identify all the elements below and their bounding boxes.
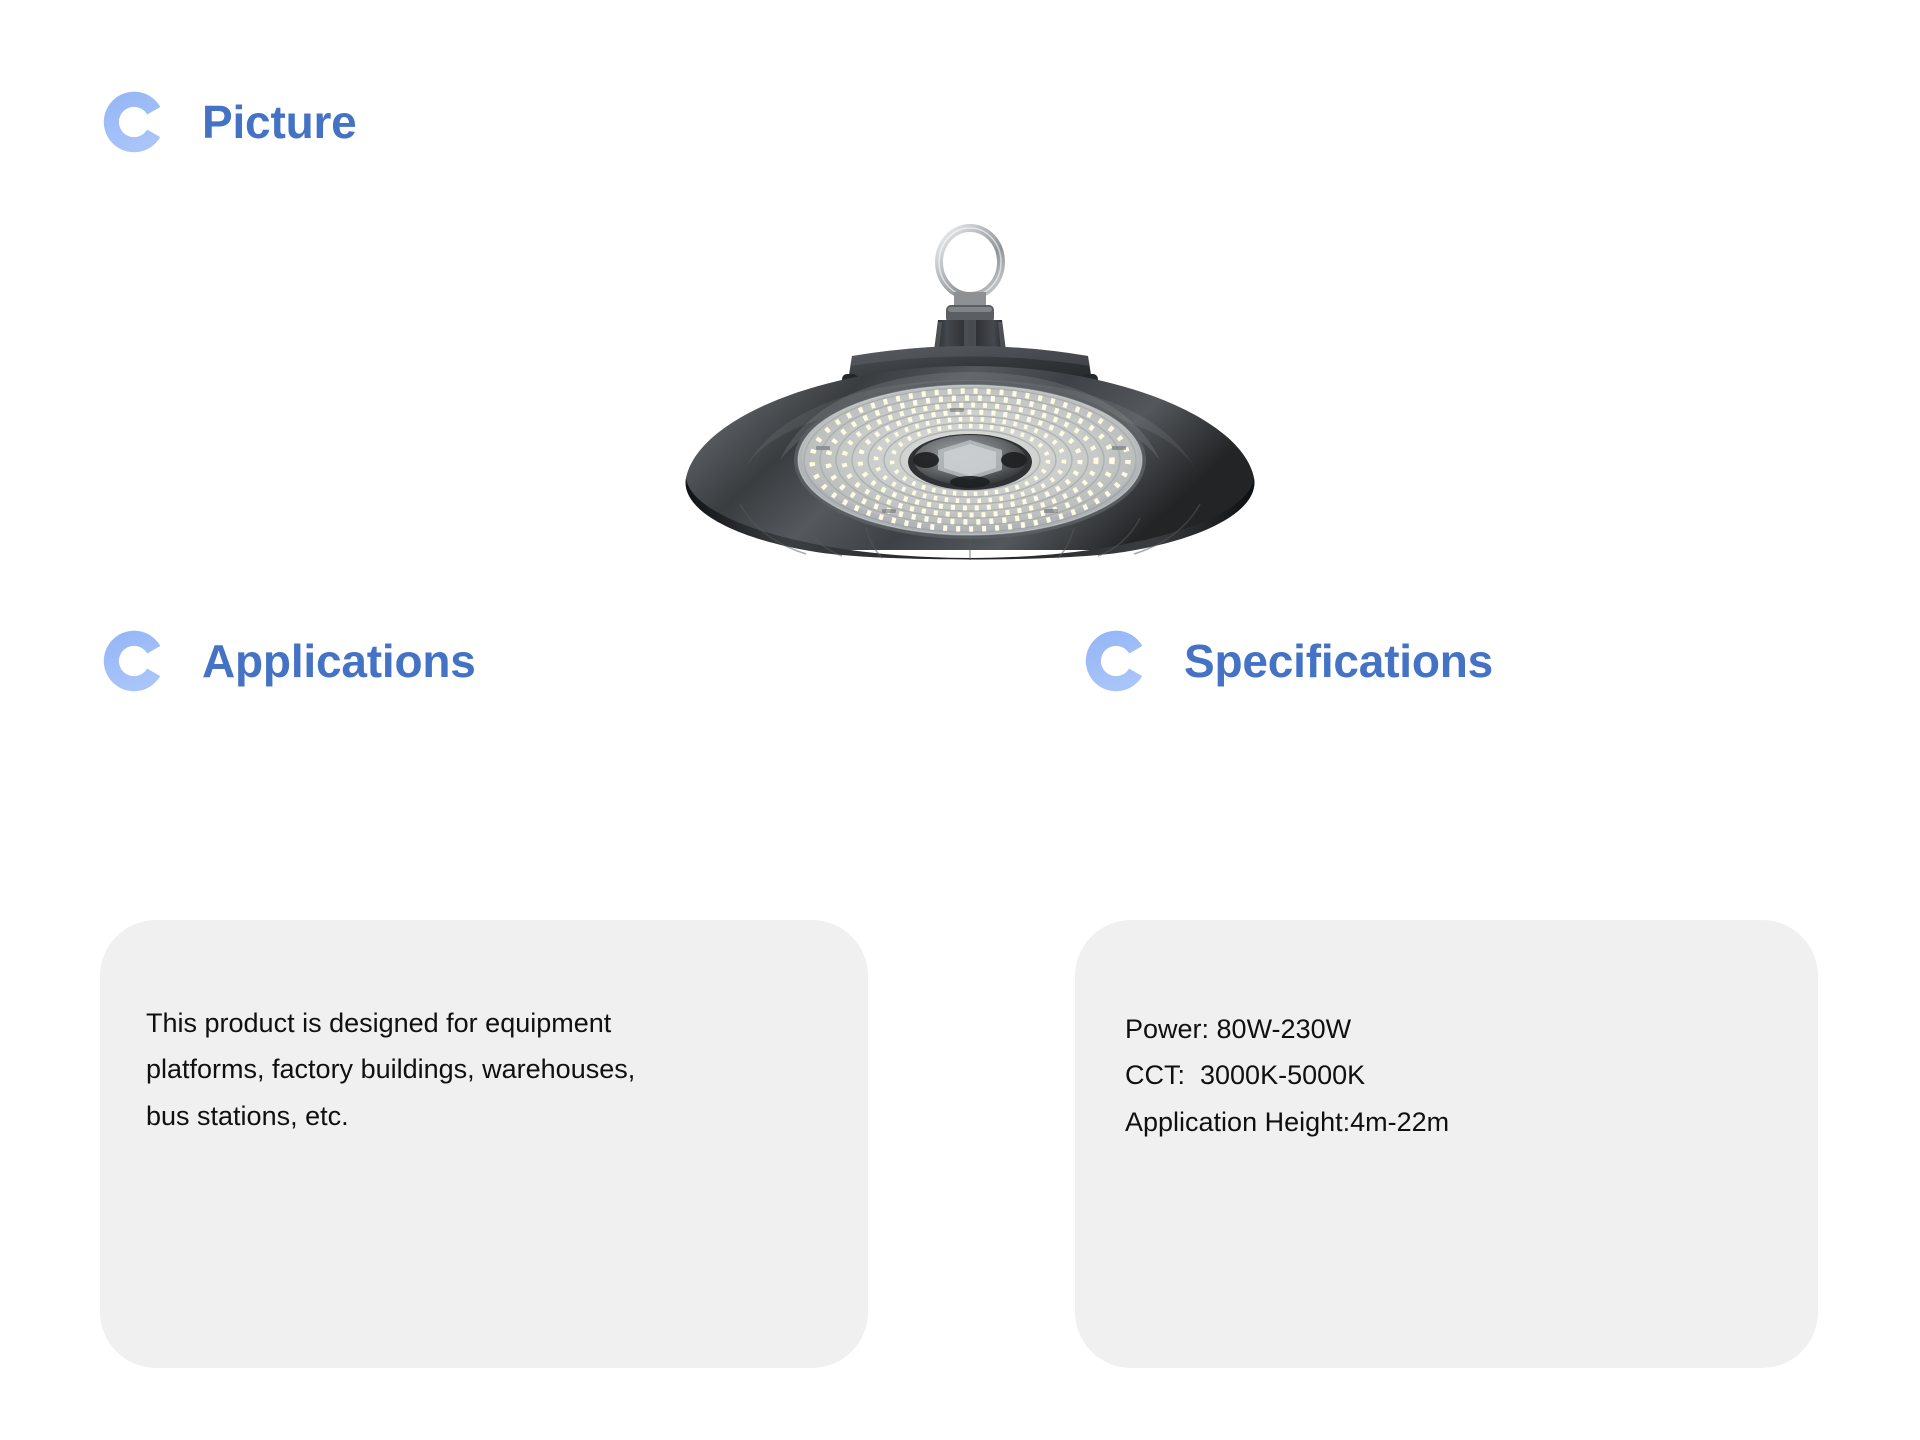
section-title-specifications: Specifications [1184, 638, 1493, 684]
section-title-applications: Applications [202, 638, 476, 684]
section-header-specifications: Specifications [1080, 625, 1493, 697]
section-header-applications: Applications [98, 625, 476, 697]
spec-line-cct: CCT: 3000K-5000K [1125, 1052, 1745, 1098]
hanging-ring [939, 228, 1001, 323]
specifications-body: Power: 80W-230W CCT: 3000K-5000K Applica… [1125, 1006, 1745, 1145]
c-brand-logo-icon [98, 625, 170, 697]
product-image-led-ufo-high-bay-light [620, 160, 1320, 560]
applications-body-text: This product is designed for equipment p… [146, 1000, 686, 1139]
center-optic-hub [908, 434, 1032, 490]
specifications-card: Power: 80W-230W CCT: 3000K-5000K Applica… [1075, 920, 1818, 1368]
led-lens-assembly [794, 381, 1146, 539]
section-title-picture: Picture [202, 99, 357, 145]
applications-card: This product is designed for equipment p… [100, 920, 868, 1368]
section-header-picture: Picture [98, 86, 357, 158]
spec-line-application-height: Application Height:4m-22m [1125, 1099, 1745, 1145]
spec-line-power: Power: 80W-230W [1125, 1006, 1745, 1052]
c-brand-logo-icon [98, 86, 170, 158]
c-brand-logo-icon [1080, 625, 1152, 697]
